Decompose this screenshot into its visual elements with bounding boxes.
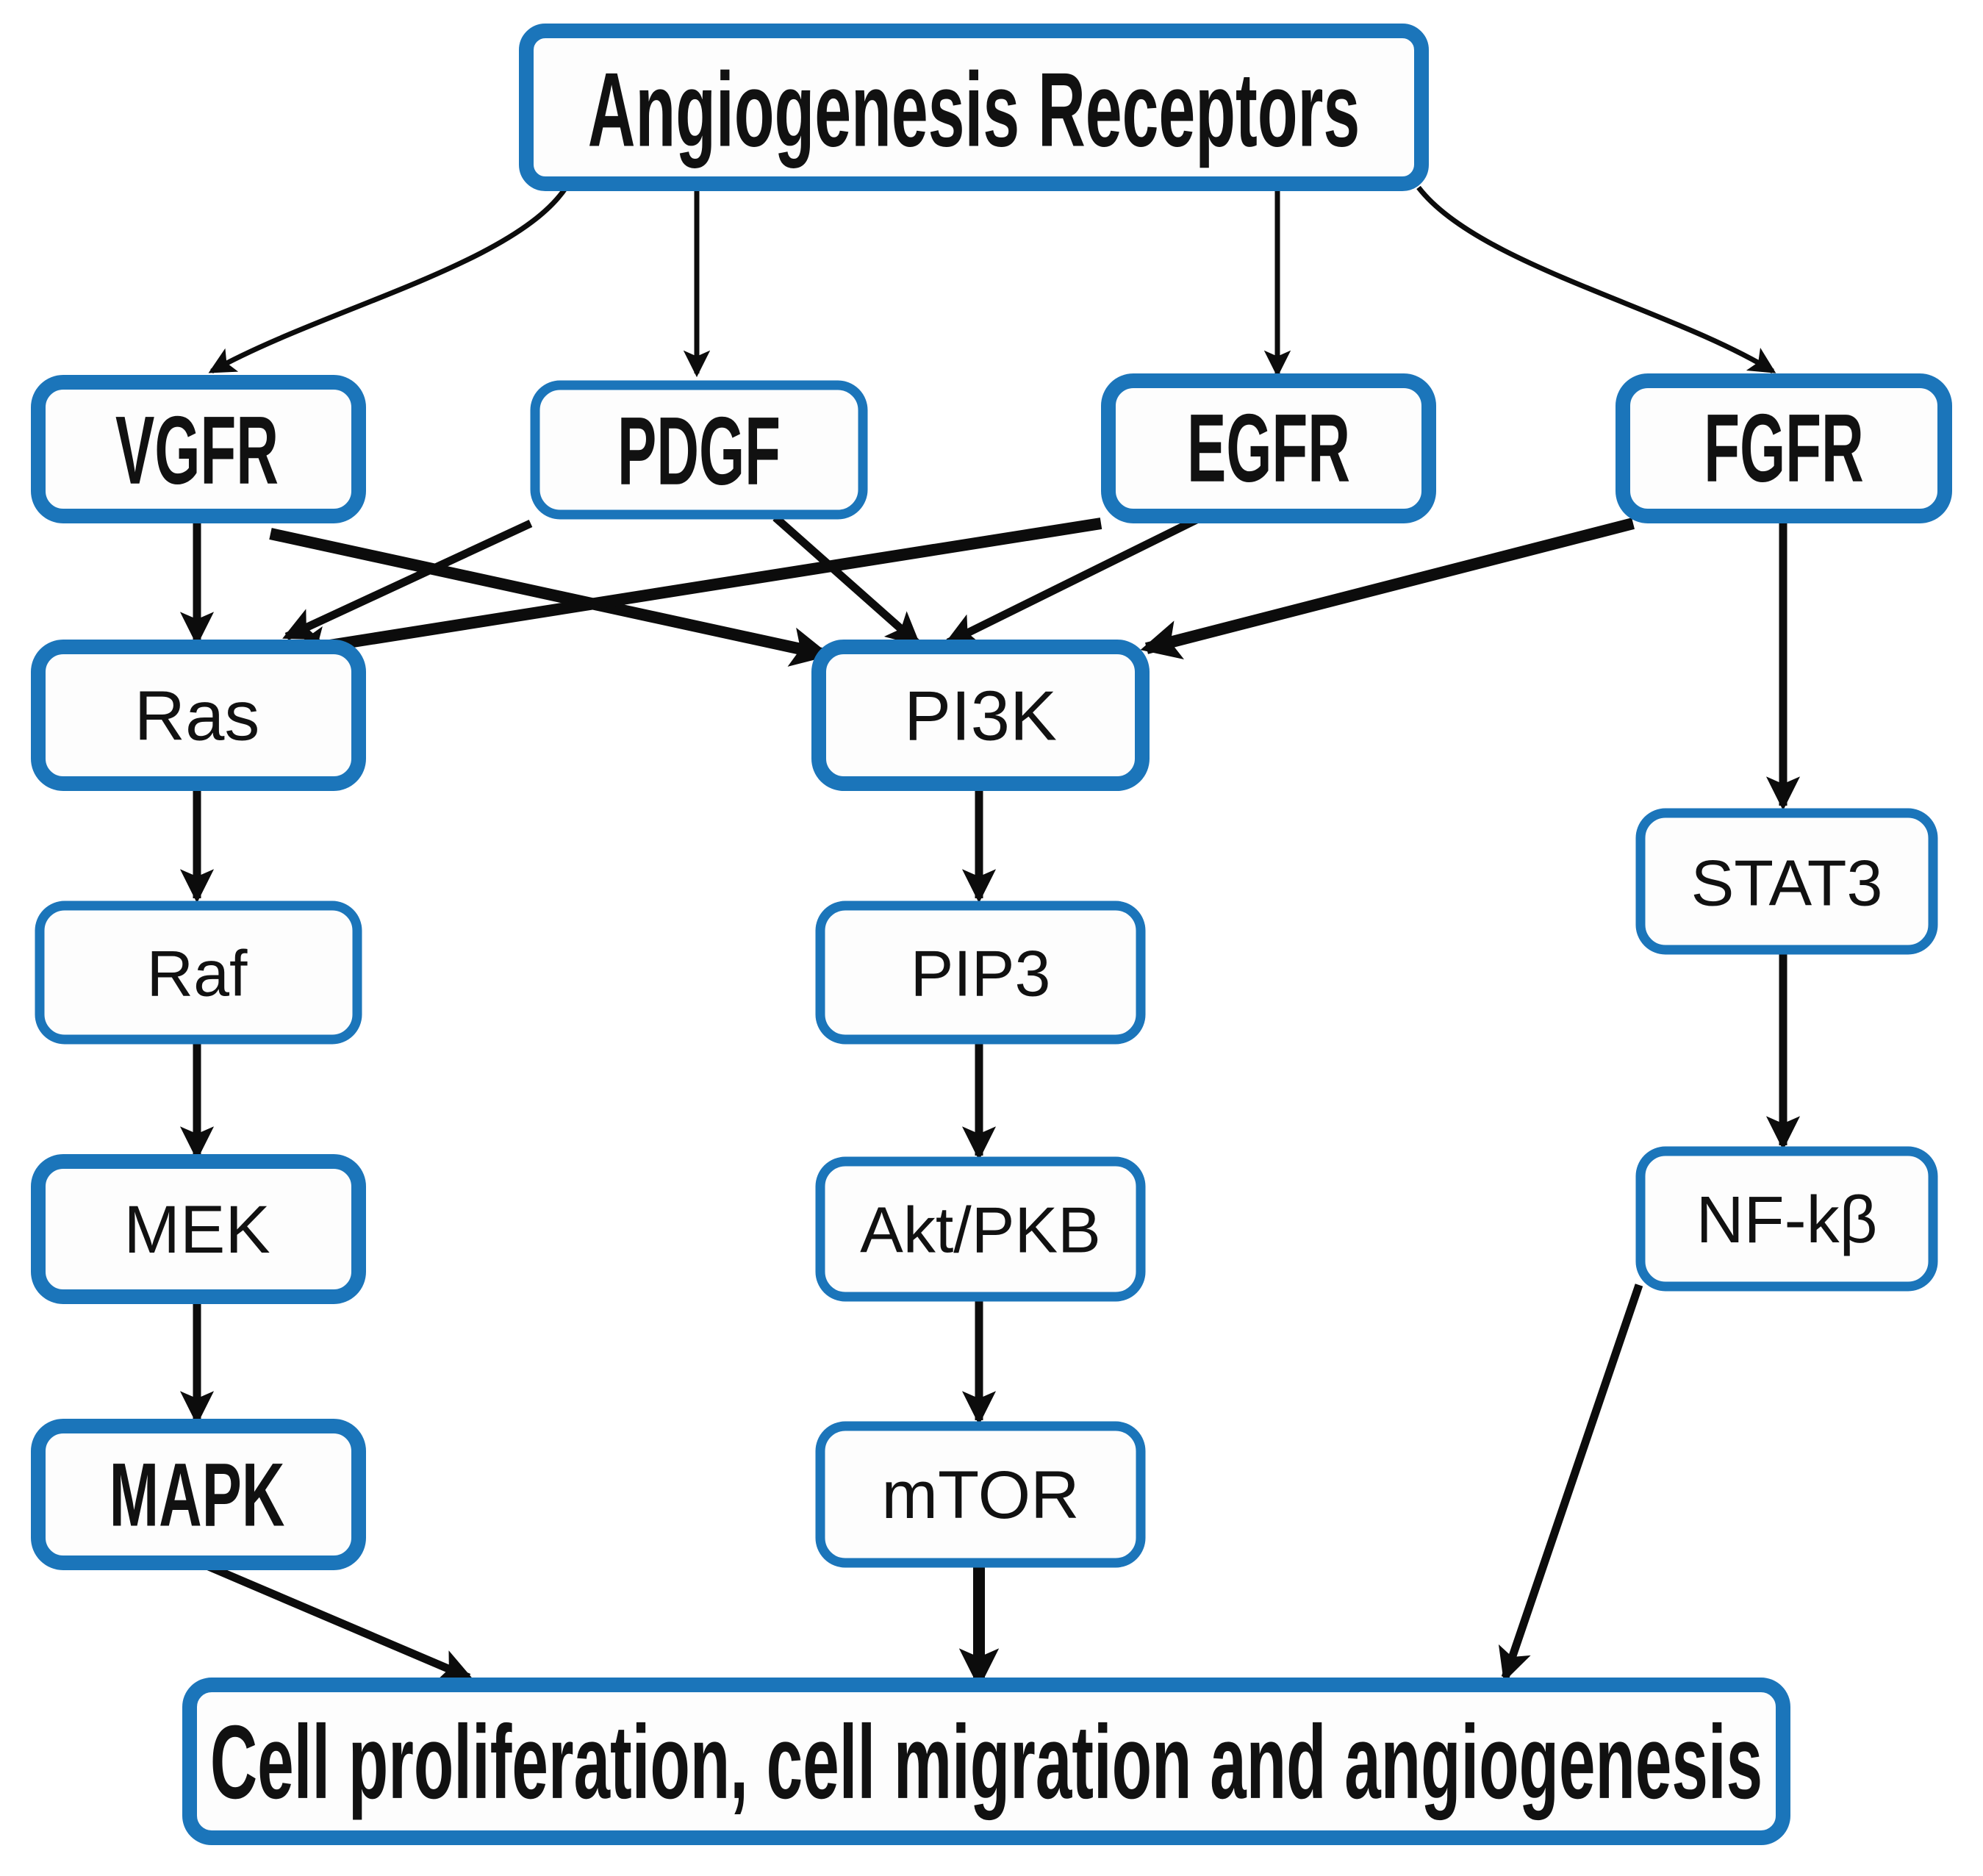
node-fgfr[interactable]: FGFR bbox=[1623, 381, 1945, 516]
node-label-fgfr: FGFR bbox=[1704, 394, 1863, 503]
node-pi3k[interactable]: PI3K bbox=[819, 647, 1142, 784]
node-label-pdgf: PDGF bbox=[617, 397, 781, 506]
node-label-raf: Raf bbox=[147, 937, 248, 1010]
node-raf[interactable]: Raf bbox=[40, 906, 357, 1039]
edge-nfkb-to-outcome bbox=[1505, 1285, 1639, 1678]
node-pdgf[interactable]: PDGF bbox=[535, 385, 863, 515]
node-label-mek: MEK bbox=[123, 1192, 270, 1267]
node-vgfr[interactable]: VGFR bbox=[38, 382, 359, 516]
node-mek[interactable]: MEK bbox=[38, 1161, 359, 1297]
node-label-mtor: mTOR bbox=[881, 1458, 1079, 1533]
node-ras[interactable]: Ras bbox=[38, 647, 359, 784]
node-label-nf-kb: NF-kβ bbox=[1696, 1184, 1878, 1257]
node-label-vgfr: VGFR bbox=[115, 396, 279, 505]
node-outcome[interactable]: Cell proliferation, cell migration and a… bbox=[190, 1685, 1783, 1838]
node-stat3[interactable]: STAT3 bbox=[1640, 813, 1933, 950]
node-label-outcome: Cell proliferation, cell migration and a… bbox=[210, 1705, 1763, 1821]
node-egfr[interactable]: EGFR bbox=[1108, 381, 1429, 516]
node-mapk[interactable]: MAPK bbox=[38, 1426, 359, 1563]
node-mtor[interactable]: mTOR bbox=[820, 1426, 1141, 1563]
node-pip3[interactable]: PIP3 bbox=[820, 906, 1141, 1039]
node-label-pi3k: PI3K bbox=[904, 677, 1057, 756]
node-label-akt-pkb: Akt/PKB bbox=[860, 1194, 1101, 1267]
node-label-mapk: MAPK bbox=[110, 1445, 285, 1546]
node-label-egfr: EGFR bbox=[1187, 394, 1350, 503]
edge-fgfr-to-pi3k bbox=[1147, 523, 1633, 648]
edge-receptors-to-fgfr bbox=[1419, 187, 1773, 371]
edge-mapk-to-outcome bbox=[200, 1563, 469, 1678]
node-akt-pkb[interactable]: Akt/PKB bbox=[820, 1161, 1141, 1297]
pathway-diagram: Angiogenesis Receptors VGFR PDGF EGFR FG… bbox=[0, 0, 1983, 1876]
node-label-stat3: STAT3 bbox=[1691, 847, 1883, 920]
node-label-angiogenesis-receptors: Angiogenesis Receptors bbox=[588, 51, 1360, 169]
node-nf-kb[interactable]: NF-kβ bbox=[1640, 1151, 1933, 1286]
pathway-canvas: Angiogenesis Receptors VGFR PDGF EGFR FG… bbox=[0, 0, 1983, 1876]
edge-receptors-to-vgfr bbox=[212, 187, 566, 371]
node-angiogenesis-receptors[interactable]: Angiogenesis Receptors bbox=[526, 31, 1421, 184]
node-label-pip3: PIP3 bbox=[911, 937, 1051, 1010]
edge-pdgf-to-pi3k bbox=[775, 518, 917, 643]
node-label-ras: Ras bbox=[135, 677, 260, 756]
